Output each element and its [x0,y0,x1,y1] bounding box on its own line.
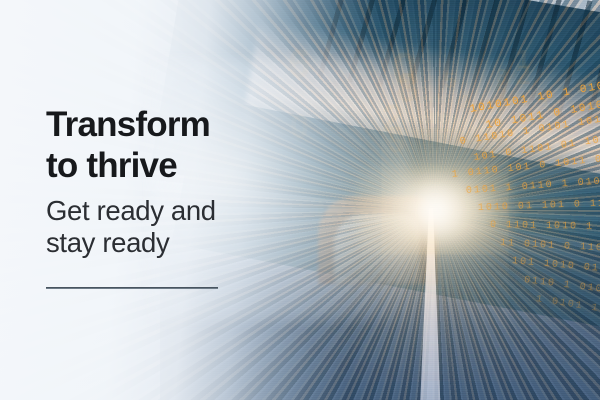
headline-line-2: to thrive [46,146,177,185]
subheadline: Get ready andstay ready [46,195,316,259]
headline: Transformto thrive [46,104,316,186]
headline-line-1: Transform [46,105,210,144]
hero-banner: 6082505128506211010101 10 1 0101101 110 … [0,0,600,400]
copy-block: Transformto thrive Get ready andstay rea… [46,104,316,259]
divider-rule [46,287,218,289]
subheadline-line-1: Get ready and [46,195,216,226]
subheadline-line-2: stay ready [46,227,169,258]
